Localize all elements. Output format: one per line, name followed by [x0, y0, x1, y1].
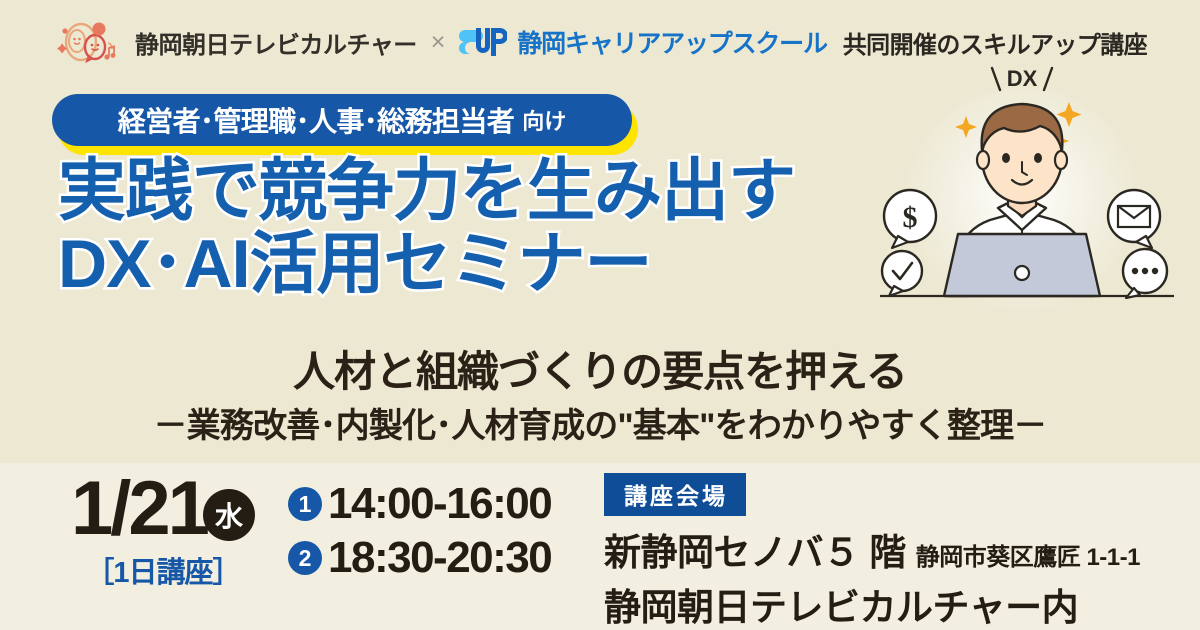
dots-icon — [1123, 249, 1167, 298]
seminar-date: 1/21 — [71, 471, 207, 547]
man-at-laptop-illustration: DX — [862, 58, 1192, 388]
session-time-2: 18:30-20:30 — [328, 536, 551, 580]
date-row: 1/21 水 — [28, 471, 298, 547]
session-number-2-icon: 2 — [288, 541, 322, 575]
venue-line-1: 新静岡セノバ５ 階 静岡市葵区鷹匠 1-1-1 — [604, 522, 1184, 576]
target-audience-main: 経営者･管理職･人事･総務担当者 — [118, 100, 514, 140]
svg-text:DX: DX — [1007, 66, 1038, 91]
dx-label: DX — [992, 66, 1052, 91]
sact-logo-label: 静岡朝日テレビカルチャー — [135, 25, 417, 60]
svg-text:$: $ — [903, 201, 918, 234]
day-of-week-badge: 水 — [203, 489, 255, 541]
title-line-2: DX･AI活用セミナー — [58, 228, 918, 301]
venue-line-2: 静岡朝日テレビカルチャー内 — [604, 577, 1184, 630]
subtitle-line-2: －業務改善･内製化･人材育成の"基本"をわかりやすく整理－ — [0, 398, 1200, 447]
sact-characters-logo — [53, 20, 125, 64]
badge-body: 経営者･管理職･人事･総務担当者 向け — [52, 94, 632, 146]
up-school-logo-label: 静岡キャリアアップスクール — [517, 24, 826, 60]
check-icon — [882, 251, 922, 296]
date-block: 1/21 水 ［1日講座］ — [28, 471, 298, 591]
session-row-2: 2 18:30-20:30 — [288, 531, 551, 585]
session-number-1-icon: 1 — [288, 487, 322, 521]
cross-icon: × — [431, 30, 446, 55]
venue-block: 講座会場 新静岡セノバ５ 階 静岡市葵区鷹匠 1-1-1 静岡朝日テレビカルチャ… — [604, 473, 1184, 630]
seminar-banner: 静岡朝日テレビカルチャー × 静岡キャリアアップスクール 共同開催のスキルアップ… — [0, 0, 1200, 630]
target-audience-badge: 経営者･管理職･人事･総務担当者 向け — [52, 94, 632, 146]
venue-name: 新静岡セノバ５ 階 — [604, 522, 906, 576]
up-monogram-logo — [459, 22, 507, 62]
cooperation-text: 共同開催のスキルアップ講座 — [843, 25, 1147, 60]
session-row-1: 1 14:00-16:00 — [288, 477, 551, 531]
course-type-label: ［1日講座］ — [28, 549, 298, 591]
bottom-info-bar: 1/21 水 ［1日講座］ 1 14:00-16:00 2 18:30-20:3… — [0, 463, 1200, 630]
title-line-1: 実践で競争力を生み出す — [58, 155, 918, 228]
venue-address: 静岡市葵区鷹匠 1-1-1 — [916, 537, 1140, 572]
target-audience-suffix: 向け — [522, 104, 566, 136]
main-title: 実践で競争力を生み出す DX･AI活用セミナー — [58, 155, 918, 302]
session-time-1: 14:00-16:00 — [328, 482, 551, 526]
venue-badge-label: 講座会場 — [604, 473, 746, 516]
session-times: 1 14:00-16:00 2 18:30-20:30 — [288, 477, 551, 585]
